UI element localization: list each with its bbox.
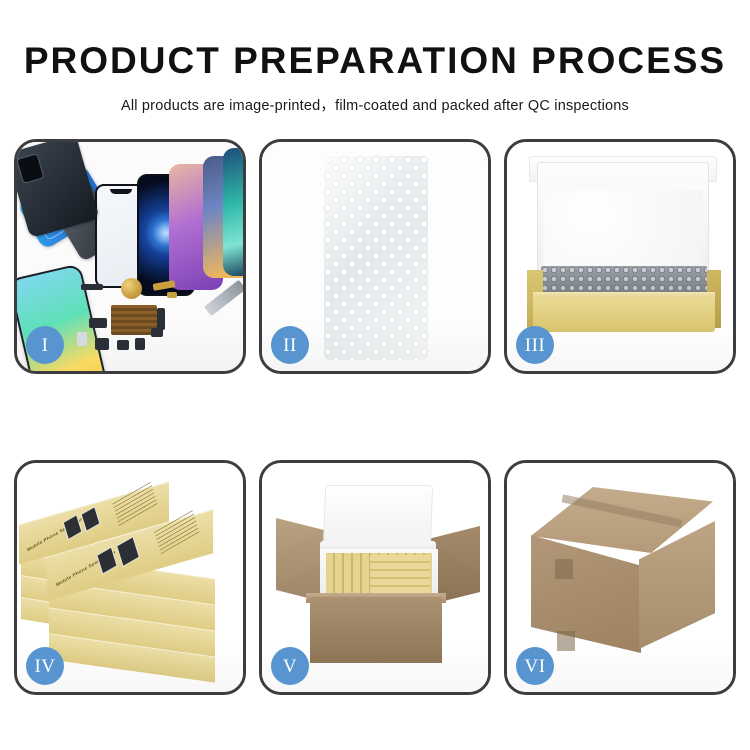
process-step-panel-1[interactable]: I: [14, 139, 246, 374]
teal-phone-icon: [223, 148, 243, 276]
process-step-panel-2[interactable]: II: [259, 139, 491, 374]
step-badge-6: VI: [516, 647, 554, 685]
carton-tape-icon: [555, 559, 573, 579]
process-step-panel-6[interactable]: VI: [504, 460, 736, 695]
process-step-panel-4[interactable]: Mobile Phone Spare Parts Mobile Phone Sp…: [14, 460, 246, 695]
kraft-boxes-inside-icon: [370, 555, 430, 593]
step-badge-4: IV: [26, 647, 64, 685]
small-part-icon: [89, 318, 107, 328]
step-badge-5: V: [271, 647, 309, 685]
flex-cable-icon: [157, 308, 165, 330]
small-part-icon: [95, 338, 109, 350]
process-steps-grid: I II: [14, 139, 736, 695]
small-part-icon: [135, 338, 145, 350]
kraft-box-front-icon: [533, 298, 715, 332]
carton-front-face-icon: [531, 535, 641, 653]
small-part-icon: [81, 284, 103, 290]
page-title: PRODUCT PREPARATION PROCESS: [0, 42, 750, 81]
box-spec-lines: [112, 482, 158, 527]
box-phone-image: [81, 506, 101, 532]
step-badge-1: I: [26, 326, 64, 364]
page-header: PRODUCT PREPARATION PROCESS All products…: [0, 0, 750, 115]
process-step-panel-3[interactable]: III: [504, 139, 736, 374]
process-step-panel-5[interactable]: V: [259, 460, 491, 695]
product-preparation-process-page: PRODUCT PREPARATION PROCESS All products…: [0, 0, 750, 750]
carton-tape-icon: [557, 631, 575, 651]
page-subtitle: All products are image-printed，film-coat…: [0, 94, 750, 115]
box-phone-image: [116, 536, 140, 567]
gold-connector-icon: [167, 292, 177, 298]
plastic-sheen: [324, 156, 428, 360]
speaker-module-icon: [121, 278, 142, 299]
small-part-icon: [117, 340, 129, 350]
sim-tray-icon: [77, 332, 87, 346]
step-badge-3: III: [516, 326, 554, 364]
step-badge-2: II: [271, 326, 309, 364]
carton-body-icon: [310, 597, 442, 663]
foam-box-lid-icon: [323, 485, 433, 549]
foam-sheet-icon: [543, 190, 703, 268]
